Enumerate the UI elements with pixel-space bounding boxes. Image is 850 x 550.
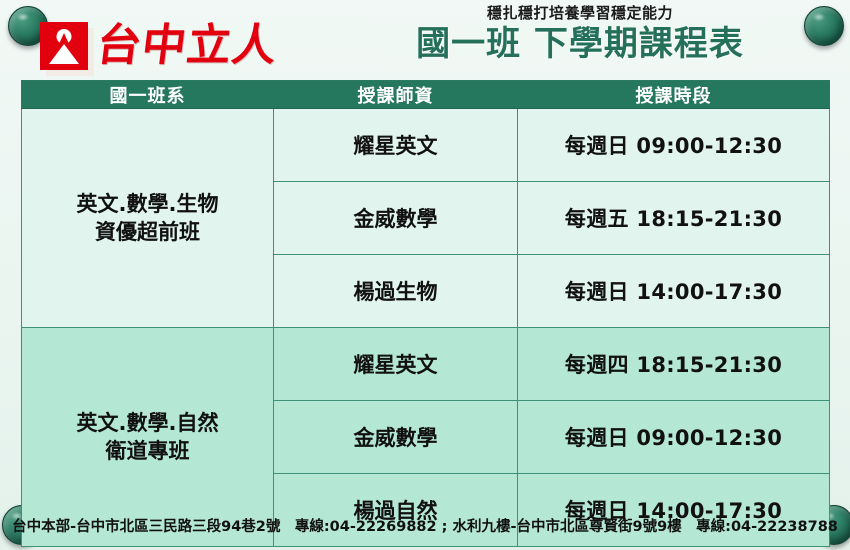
time-cell: 每週日 09:00-12:30 (518, 109, 830, 182)
table-header-row: 國一班系 授課師資 授課時段 (22, 81, 830, 109)
group-name-cell: 英文.數學.生物 資優超前班 (22, 109, 274, 328)
person-legs-gap-shape (59, 33, 69, 44)
column-header-teacher: 授課師資 (274, 81, 518, 109)
time-cell: 每週五 18:15-21:30 (518, 182, 830, 255)
group-name-cell: 英文.數學.自然 衛道專班 (22, 328, 274, 547)
time-cell: 每週日 14:00-17:30 (518, 255, 830, 328)
page-title: 國一班 下學期課程表 (360, 25, 800, 63)
table-row: 英文.數學.自然 衛道專班 耀星英文 每週四 18:15-21:30 (22, 328, 830, 401)
time-cell: 每週日 09:00-12:30 (518, 401, 830, 474)
table-row: 英文.數學.生物 資優超前班 耀星英文 每週日 09:00-12:30 (22, 109, 830, 182)
group-name-line2: 資優超前班 (22, 218, 273, 246)
schedule-table: 國一班系 授課師資 授課時段 英文.數學.生物 資優超前班 耀星英文 每週日 0… (21, 80, 830, 547)
column-header-time: 授課時段 (518, 81, 830, 109)
teacher-cell: 金威數學 (274, 182, 518, 255)
teacher-cell: 耀星英文 (274, 109, 518, 182)
slogan-text: 穩扎穩打培養學習穩定能力 (360, 4, 800, 24)
group-name-line2: 衛道專班 (22, 437, 273, 465)
brand-name: 台中立人 (94, 24, 279, 68)
course-schedule-poster: 台中立人 穩扎穩打培養學習穩定能力 國一班 下學期課程表 國一班系 授課師資 授… (0, 0, 850, 550)
headline-block: 穩扎穩打培養學習穩定能力 國一班 下學期課程表 (360, 4, 800, 63)
teacher-cell: 楊過生物 (274, 255, 518, 328)
time-cell: 每週四 18:15-21:30 (518, 328, 830, 401)
group-name-line1: 英文.數學.生物 (22, 190, 273, 218)
decorative-sphere-top-right (804, 6, 844, 46)
brand-logo: 台中立人 (40, 22, 277, 70)
column-header-class: 國一班系 (22, 81, 274, 109)
group-name-line1: 英文.數學.自然 (22, 409, 273, 437)
footer-contact-info: 台中本部-台中市北區三民路三段94巷2號 專線:04-22269882 ; 水利… (0, 515, 850, 536)
person-mark-icon (40, 22, 88, 70)
teacher-cell: 金威數學 (274, 401, 518, 474)
teacher-cell: 耀星英文 (274, 328, 518, 401)
person-body-shape (49, 44, 79, 64)
